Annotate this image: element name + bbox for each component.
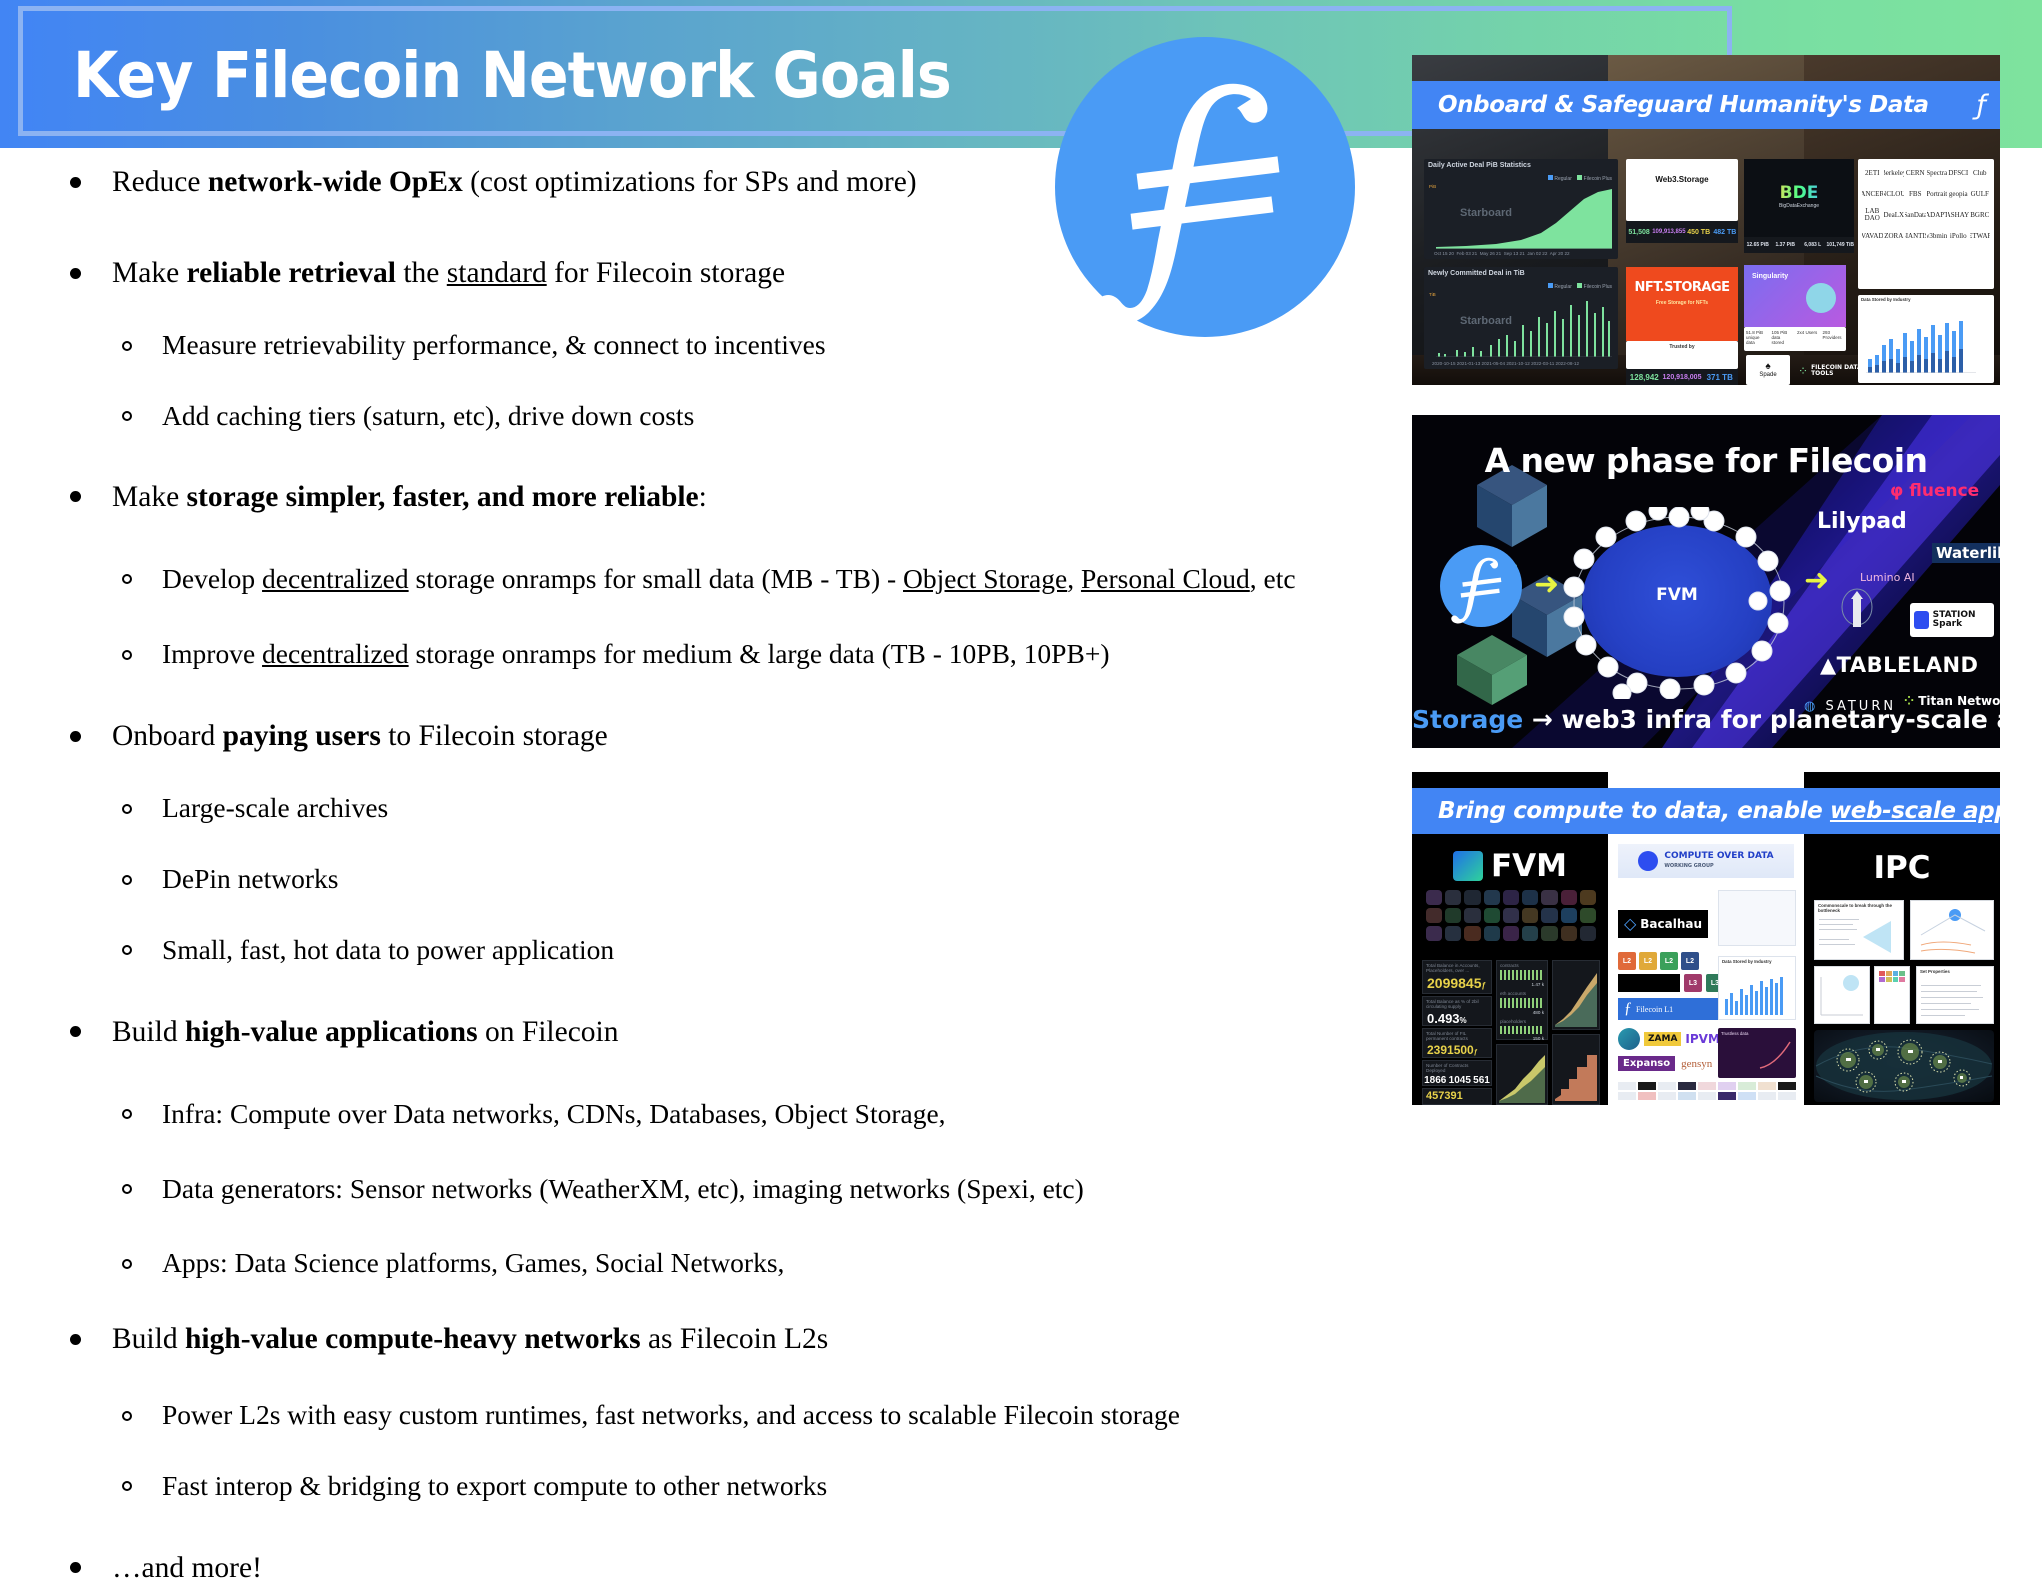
arrow-right-icon-2: ➜	[1804, 563, 1829, 598]
bar-eth-accounts	[1500, 998, 1544, 1008]
app-icon[interactable]	[1426, 890, 1442, 905]
cod-header: COMPUTE OVER DATAWORKING GROUP	[1618, 844, 1794, 878]
page-title: Key Filecoin Network Goals	[73, 39, 951, 112]
bullet-segment: Power L2s with easy custom runtimes, fas…	[162, 1399, 1180, 1430]
app-icon[interactable]	[1580, 908, 1596, 923]
bullet-segment: decentralized	[262, 563, 409, 594]
chart-industry-small: Data Stored by Industry	[1718, 956, 1796, 1020]
bullet-circle-icon	[122, 1481, 132, 1491]
partner-dot-icon	[1618, 1028, 1640, 1050]
card-singularity-stats: 51.8 PiB unique data 105 PiB data stored…	[1744, 327, 1846, 351]
partner-fluence[interactable]: φ fluence	[1890, 481, 1979, 501]
bullet-text: Build high-value compute-heavy networks …	[112, 1323, 828, 1355]
bullet-segment: :	[699, 481, 707, 513]
filecoin-f-glyph	[1055, 37, 1355, 337]
bullet-text: Onboard paying users to Filecoin storage	[112, 720, 608, 752]
partner-logo: GULF	[1970, 184, 1991, 204]
partner-logo: RASHAYIS	[1948, 205, 1969, 225]
bullet-segment: Large-scale archives	[162, 792, 388, 823]
ipc-slide-thumb-4[interactable]	[1874, 966, 1910, 1024]
partner-logo: ZORA	[1884, 226, 1905, 246]
thumb-heading-2: Set Properties	[1917, 967, 1993, 976]
partner-logo: ADAPT	[1927, 205, 1948, 225]
partner-logo: SanData	[1905, 205, 1926, 225]
bullet-segment: (cost optimizations for SPs and more)	[463, 166, 917, 198]
cod-partner-logos: ZAMA IPVM	[1618, 1028, 1720, 1050]
stat-value: 2391500ƒ	[1423, 1043, 1491, 1057]
panel-banner-onboard: Onboard & Safeguard Humanity's Data ƒ	[1412, 81, 2000, 129]
bullet-segment: DePin networks	[162, 863, 338, 894]
card-web3-storage-stats: 51,508 109,913,855 450 TB 482 TB	[1626, 221, 1738, 243]
card-bde-sub: BigDataExchange	[1744, 203, 1854, 209]
bullet-circle-icon	[122, 411, 132, 421]
logo-filecoin-l1[interactable]: ƒ Filecoin L1	[1618, 998, 1724, 1020]
diagram-bacalhau-architecture	[1718, 890, 1796, 946]
partner-lilypad[interactable]: Lilypad	[1817, 509, 1907, 534]
bullet-dot-icon	[70, 268, 81, 279]
chart-fil-accounts	[1552, 1034, 1600, 1105]
bullet-item-level2: Improve decentralized storage onramps fo…	[0, 639, 1562, 670]
bullet-text: Make reliable retrieval the standard for…	[112, 257, 785, 289]
card-bde-stats: 12.65 PiB 1.37 PiB 6,083 L 101,749 TiB	[1744, 237, 1854, 253]
bullet-segment: Fast interop & bridging to export comput…	[162, 1470, 827, 1501]
panel-banner-text: Onboard & Safeguard Humanity's Data	[1438, 92, 1929, 118]
fvm-col-header: FVM	[1430, 848, 1590, 884]
bullet-circle-icon	[122, 341, 132, 351]
bullet-circle-icon	[122, 1259, 132, 1269]
bullet-segment: Make	[112, 257, 187, 289]
stat-permanent-contracts: Total Number of FIL permanent contracts …	[1422, 1028, 1492, 1058]
panel-banner-compute: Bring compute to data, enable web-scale …	[1412, 788, 2000, 834]
app-icon[interactable]	[1503, 890, 1519, 905]
lighthouse-icon	[1840, 585, 1874, 635]
ipc-slide-thumb-5[interactable]: Set Properties	[1916, 966, 1994, 1024]
partner-logo: Spectra	[1927, 163, 1948, 183]
chart-title-2: Newly Committed Deal in TiB	[1424, 267, 1618, 280]
grid-dots-icon: ⁘	[1798, 364, 1808, 379]
card-spade[interactable]: ♠ Spade	[1746, 355, 1790, 385]
partner-logo-wall: 2ETI Berkeley CERN Spectra DFSCI Club AN…	[1858, 159, 1994, 289]
bullet-item-level1: Make storage simpler, faster, and more r…	[0, 481, 1512, 514]
tableland-mark-icon: ▲	[1820, 653, 1837, 677]
bullet-circle-icon	[122, 804, 132, 814]
bar-contracts	[1500, 970, 1544, 980]
logo-expanso[interactable]: Expanso	[1618, 1056, 1675, 1071]
app-icon[interactable]	[1541, 890, 1557, 905]
cod-logo-wall	[1618, 1082, 1796, 1100]
thumb-heading: Commonscale to break through the bottlen…	[1815, 901, 1903, 915]
bullet-text: Develop decentralized storage onramps fo…	[162, 563, 1296, 594]
app-icon[interactable]	[1522, 926, 1538, 941]
bullet-text: Apps: Data Science platforms, Games, Soc…	[162, 1247, 784, 1278]
bullet-segment: on Filecoin	[478, 1016, 619, 1048]
partner-logo: iPollo	[1948, 226, 1969, 246]
fvm-app-icon-grid	[1426, 890, 1596, 941]
bullet-segment: network-wide OpEx	[208, 166, 463, 198]
card-bde-label: BDE	[1744, 159, 1854, 203]
app-icon[interactable]	[1541, 908, 1557, 923]
bullet-text: Improve decentralized storage onramps fo…	[162, 638, 1110, 669]
bullet-segment: as Filecoin L2s	[641, 1323, 829, 1355]
bullet-item-level1: …and more!	[0, 1552, 1512, 1585]
chart-contracts-over-time	[1496, 1044, 1548, 1105]
chart-legend: Regular Filecoin Plus	[1548, 175, 1612, 182]
partner-logo: Berkeley	[1884, 163, 1905, 183]
bullet-item-level2: DePin networks	[0, 864, 1562, 895]
bar-breakdown-card: contracts 1.47 k eth accounts 480 k plac…	[1496, 960, 1548, 1040]
card-nft-storage[interactable]: NFT.STORAGE Free Storage for NFTs	[1626, 267, 1738, 341]
arrow-right-icon-1: ➜	[1534, 567, 1559, 602]
stat-total-balance: Total Balance in Accounts, Placeholders,…	[1422, 960, 1492, 994]
bullet-segment: storage onramps for medium & large data …	[409, 638, 1110, 669]
filecoin-mark-icon-3: ƒ	[1624, 1000, 1632, 1018]
app-icon[interactable]	[1445, 890, 1461, 905]
bullet-item-level2: Data generators: Sensor networks (Weathe…	[0, 1174, 1562, 1205]
chart-trustless-data: Trustless data	[1718, 1028, 1796, 1078]
bullet-item-level1: Build high-value applications on Filecoi…	[0, 1016, 1512, 1049]
bullet-text: Reduce network-wide OpEx (cost optimizat…	[112, 166, 917, 198]
filecoin-logo-icon	[1055, 37, 1355, 337]
partner-logo: Portrait	[1927, 184, 1948, 204]
bullet-item-level1: Build high-value compute-heavy networks …	[0, 1323, 1512, 1356]
bullet-circle-icon	[122, 1184, 132, 1194]
logo-ipvm[interactable]: IPVM	[1685, 1032, 1720, 1046]
bullet-segment: for Filecoin storage	[547, 257, 785, 289]
ipc-globe-visualization	[1814, 1030, 1994, 1102]
partner-logo: ANCER	[1862, 184, 1883, 204]
card-nft-tagline: Free Storage for NFTs	[1626, 300, 1738, 306]
bullet-circle-icon	[122, 875, 132, 885]
app-icon[interactable]	[1464, 908, 1480, 923]
bullet-item-level2: Large-scale archives	[0, 793, 1562, 824]
stat-values-row: 1866 1045 561	[1423, 1075, 1491, 1086]
partner-logo: DeaLX	[1884, 205, 1905, 225]
bullet-segment: …and more!	[112, 1552, 262, 1584]
partner-logo: 2ETI	[1862, 163, 1883, 183]
industry-bars-small	[1723, 973, 1785, 1015]
bullet-item-level2: Infra: Compute over Data networks, CDNs,…	[0, 1099, 1562, 1130]
ipc-slide-thumb-1[interactable]: Commonscale to break through the bottlen…	[1814, 900, 1904, 960]
stat-value: 2099845ƒ	[1423, 975, 1491, 991]
station-logo-icon	[1914, 611, 1929, 629]
partner-logo: VAVAD	[1862, 226, 1883, 246]
app-icon[interactable]	[1503, 926, 1519, 941]
bullet-text: DePin networks	[162, 863, 338, 894]
bullet-segment: , etc	[1250, 563, 1296, 594]
bullet-segment: Personal Cloud	[1081, 563, 1250, 594]
partner-logo: FBS	[1905, 184, 1926, 204]
app-icon[interactable]	[1484, 926, 1500, 941]
growth-curve	[1758, 1040, 1792, 1070]
app-icon[interactable]	[1445, 908, 1461, 923]
app-icon[interactable]	[1445, 926, 1461, 941]
fluence-mark-icon: φ	[1890, 481, 1903, 501]
bullet-segment: high-value applications	[185, 1016, 478, 1048]
stat-value: 0.493%	[1423, 1011, 1491, 1026]
bullet-text: Infra: Compute over Data networks, CDNs,…	[162, 1098, 946, 1129]
image-panel-onboard-safeguard[interactable]: Onboard & Safeguard Humanity's Data ƒ Da…	[1412, 55, 2000, 385]
app-icon[interactable]	[1503, 908, 1519, 923]
bullet-segment: Improve	[162, 638, 262, 669]
partner-waterlily[interactable]: Waterlily	[1932, 543, 2000, 563]
partner-logo: BGRC	[1970, 205, 1991, 225]
card-singularity[interactable]: Singularity	[1744, 265, 1846, 327]
bullet-segment: storage simpler, faster, and more reliab…	[187, 481, 699, 513]
ipc-col-title: IPC	[1804, 850, 2000, 886]
chart-data-stored-by-industry[interactable]: Data Stored by Industry	[1858, 295, 1994, 383]
app-icon[interactable]	[1561, 908, 1577, 923]
partner-logo: NETWARE	[1970, 226, 1991, 246]
bullet-segment: Build	[112, 1016, 185, 1048]
partner-station-spark[interactable]: STATION Spark	[1910, 603, 1994, 637]
fvm-logo-icon	[1453, 851, 1483, 881]
bullet-segment: ,	[1067, 563, 1081, 594]
image-panel-bring-compute[interactable]: Bring compute to data, enable web-scale …	[1412, 772, 2000, 1105]
card-web3-storage[interactable]: Web3.Storage	[1626, 159, 1738, 221]
step-chart	[1553, 1035, 1599, 1101]
bullet-text: Small, fast, hot data to power applicati…	[162, 934, 614, 965]
app-icon[interactable]	[1426, 926, 1442, 941]
logo-bacalhau[interactable]: ◇ Bacalhau	[1618, 910, 1708, 938]
cod-partner-logos-2: Expanso gensyn	[1618, 1056, 1712, 1071]
bullet-circle-icon	[122, 1411, 132, 1421]
ipc-slide-thumb-3[interactable]	[1814, 966, 1870, 1024]
app-icon[interactable]	[1464, 926, 1480, 941]
card-singularity-label: Singularity	[1744, 265, 1846, 280]
bullet-segment: reliable retrieval	[187, 257, 396, 289]
bullet-text: Power L2s with easy custom runtimes, fas…	[162, 1399, 1180, 1430]
bullet-segment: Infra: Compute over Data networks, CDNs,…	[162, 1098, 946, 1129]
app-icon[interactable]	[1561, 890, 1577, 905]
network-diagram	[1911, 901, 1993, 959]
app-icon[interactable]	[1580, 926, 1596, 941]
partner-logo: geopia	[1948, 184, 1969, 204]
bullet-text: …and more!	[112, 1552, 262, 1584]
bullet-segment: Build	[112, 1323, 185, 1355]
card-nft-storage-label: NFT.STORAGE	[1626, 267, 1738, 294]
fvm-partner-ring	[1562, 507, 1797, 699]
app-icon[interactable]	[1522, 890, 1538, 905]
spade-icon: ♠	[1746, 355, 1790, 372]
bullet-segment: storage onramps for small data (MB - TB)…	[409, 563, 903, 594]
stat-contracts-deployed: Number of Contracts Deployed 1866 1045 5…	[1422, 1060, 1492, 1086]
filecoin-circle-icon	[1440, 545, 1522, 627]
logo-zama[interactable]: ZAMA	[1644, 1032, 1681, 1046]
bullet-dot-icon	[70, 1026, 81, 1037]
area-chart	[1497, 1045, 1547, 1103]
partner-lumino-ai[interactable]: Lumino AI	[1860, 571, 1915, 584]
layer-chips-row1: L2 L2 L2 L2	[1618, 952, 1699, 970]
bullet-item-level1: Onboard paying users to Filecoin storage	[0, 720, 1512, 753]
partner-tableland[interactable]: ▲TABLELAND	[1820, 653, 1978, 677]
bullet-circle-icon	[122, 574, 132, 584]
bullet-item-level2: Power L2s with easy custom runtimes, fas…	[0, 1400, 1562, 1431]
bullet-segment: Onboard	[112, 720, 223, 752]
bullet-dot-icon	[70, 1334, 81, 1345]
app-icon[interactable]	[1522, 908, 1538, 923]
bullet-text: Fast interop & bridging to export comput…	[162, 1470, 827, 1501]
filecoin-f-glyph-mid	[1440, 545, 1522, 627]
bacalhau-mark-icon: ◇	[1624, 914, 1636, 934]
stat-pct-supply: Total Balance as % of 2bil circulating s…	[1422, 996, 1492, 1026]
partner-logo: w3bmint	[1927, 226, 1948, 246]
layer-chip-l3a: L3	[1684, 974, 1702, 992]
bullet-segment: to Filecoin storage	[381, 720, 608, 752]
chart-xticks: Oct 15 20 Feb 03 21 May 26 21 Sep 13 21 …	[1434, 251, 1570, 256]
app-icon[interactable]	[1541, 926, 1557, 941]
bullet-item-level2: Add caching tiers (saturn, etc), drive d…	[0, 401, 1562, 432]
bullet-segment: Reduce	[112, 166, 208, 198]
filecoin-mark-icon: ƒ	[1976, 90, 1986, 121]
bullet-item-level2: Fast interop & bridging to export comput…	[0, 1471, 1562, 1502]
globe-subnets	[1814, 1030, 1994, 1102]
card-nft-stats: 128,942 120,918,005 371 TB	[1626, 369, 1738, 385]
logo-gensyn[interactable]: gensyn	[1681, 1058, 1712, 1070]
card-filecoin-data-tools[interactable]: ⁘ FILECOIN DATA TOOLS	[1798, 359, 1864, 383]
bullet-item-level2: Develop decentralized storage onramps fo…	[0, 564, 1562, 595]
app-icon[interactable]	[1484, 890, 1500, 905]
chip-black	[1618, 974, 1680, 992]
chart-watermark-2: Starboard	[1460, 315, 1512, 327]
panel-banner-text-compute: Bring compute to data, enable web-scale …	[1438, 798, 2000, 824]
bullet-dot-icon	[70, 491, 81, 502]
chart-watermark: Starboard	[1460, 207, 1512, 219]
bullet-text: Data generators: Sensor networks (Weathe…	[162, 1173, 1084, 1204]
partner-logo: LAB DAO	[1862, 205, 1883, 225]
partner-logo: ENCLOUD	[1884, 184, 1905, 204]
ipc-slide-thumb-2[interactable]	[1910, 900, 1994, 960]
bullet-segment: Small, fast, hot data to power applicati…	[162, 934, 614, 965]
bullet-circle-icon	[122, 650, 132, 660]
bullet-segment: standard	[447, 257, 547, 289]
bullet-segment: decentralized	[262, 638, 409, 669]
mid-panel-title: A new phase for Filecoin	[1412, 441, 2000, 480]
app-icon[interactable]	[1464, 890, 1480, 905]
stat-transfers-value: 457391	[1426, 1090, 1463, 1102]
app-icon[interactable]	[1426, 908, 1442, 923]
bullet-segment: Data generators: Sensor networks (Weathe…	[162, 1173, 1084, 1204]
partner-logo: CERN	[1905, 163, 1926, 183]
chart-balance-fvm	[1552, 960, 1600, 1030]
area-chart-2	[1553, 961, 1599, 1027]
partner-logo: Club	[1970, 163, 1991, 183]
bullet-segment: Object Storage	[903, 563, 1067, 594]
image-panel-new-phase[interactable]: ➜ ➜ FVM A new phase for Filecoin φ fluen…	[1412, 415, 2000, 748]
bullet-circle-icon	[122, 945, 132, 955]
bullet-segment: the	[396, 257, 447, 289]
chart-yunit-2: TiB	[1429, 292, 1436, 297]
bullet-dot-icon	[70, 731, 81, 742]
industry-bars	[1866, 315, 1976, 373]
mid-panel-footer: Storage → web3 infra for planetary-scale…	[1412, 705, 2000, 734]
bullet-segment: high-value compute-heavy networks	[185, 1323, 641, 1355]
bullet-segment: paying users	[223, 720, 381, 752]
bullet-segment: Develop	[162, 563, 262, 594]
app-icon[interactable]	[1561, 926, 1577, 941]
bullet-segment: Measure retrievability performance, & co…	[162, 329, 826, 360]
bullet-segment: Add caching tiers (saturn, etc), drive d…	[162, 400, 694, 431]
chart-title: Daily Active Deal PiB Statistics	[1424, 159, 1618, 172]
card-nft-trusted: Trusted by	[1626, 341, 1738, 369]
chart-xticks-2: 2020-10-15 2021-01-13 2021-05-04 2021-10…	[1432, 361, 1579, 366]
bullet-text: Build high-value applications on Filecoi…	[112, 1016, 619, 1048]
bullet-dot-icon	[70, 1562, 81, 1573]
chart-legend-2: Regular Filecoin Plus	[1548, 283, 1612, 290]
card-web3-storage-label: Web3.Storage	[1626, 159, 1738, 184]
bullet-text: Large-scale archives	[162, 792, 388, 823]
chart-card-newly-committed-deal[interactable]: Newly Committed Deal in TiB Regular File…	[1424, 267, 1618, 369]
app-icon[interactable]	[1580, 890, 1596, 905]
bullet-segment: Make	[112, 481, 187, 513]
card-bde[interactable]: BDE BigDataExchange	[1744, 159, 1854, 237]
bullet-text: Measure retrievability performance, & co…	[162, 329, 826, 360]
bullet-dot-icon	[70, 177, 81, 188]
bullet-item-level2: Small, fast, hot data to power applicati…	[0, 935, 1562, 966]
partner-logo: SIANTIS	[1905, 226, 1926, 246]
bullet-text: Make storage simpler, faster, and more r…	[112, 481, 707, 513]
chart-card-daily-active-deal[interactable]: Daily Active Deal PiB Statistics Regular…	[1424, 159, 1618, 259]
bullet-text: Add caching tiers (saturn, etc), drive d…	[162, 400, 694, 431]
partner-logo: DFSCI	[1948, 163, 1969, 183]
bar-placeholders	[1500, 1026, 1544, 1034]
cod-title: COMPUTE OVER DATAWORKING GROUP	[1664, 852, 1773, 870]
bullet-item-level2: Apps: Data Science platforms, Games, Soc…	[0, 1248, 1562, 1279]
cod-logo-icon	[1638, 851, 1658, 871]
app-icon[interactable]	[1484, 908, 1500, 923]
bullet-circle-icon	[122, 1109, 132, 1119]
bullet-segment: Apps: Data Science platforms, Games, Soc…	[162, 1247, 784, 1278]
